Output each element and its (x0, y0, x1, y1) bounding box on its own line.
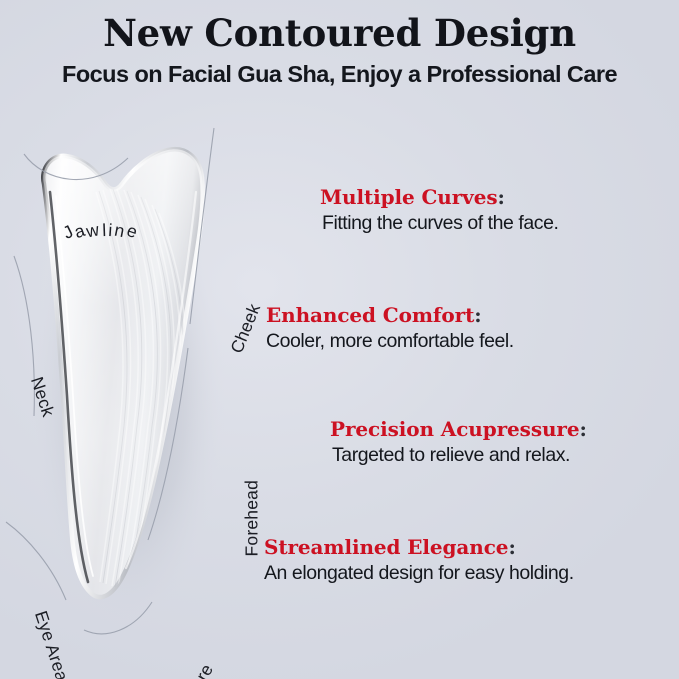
feature-title-colon: : (474, 303, 481, 327)
feature-description: Targeted to relieve and relax. (330, 440, 679, 467)
callout-label-jawline: Jawline (72, 220, 130, 241)
feature-item: Streamlined Elegance: An elongated desig… (262, 536, 679, 585)
feature-title-colon: : (498, 185, 505, 209)
feature-title-colon: : (508, 535, 515, 559)
callout-label-acupressure: Acupressure (151, 661, 218, 679)
feature-title: Multiple Curves: (320, 186, 679, 208)
feature-title-text: Streamlined Elegance (264, 535, 508, 559)
feature-title-colon: : (579, 417, 586, 441)
page-subtitle: Focus on Facial Gua Sha, Enjoy a Profess… (0, 54, 679, 88)
feature-title-text: Precision Acupressure (330, 417, 579, 441)
callout-label-forehead: Forehead (242, 480, 263, 557)
feature-description: Cooler, more comfortable feel. (266, 326, 679, 353)
header: New Contoured Design Focus on Facial Gua… (0, 0, 679, 88)
page-title: New Contoured Design (0, 0, 679, 54)
feature-item: Multiple Curves: Fitting the curves of t… (262, 186, 679, 235)
jawline-letter-2: w (85, 219, 101, 242)
feature-description: An elongated design for easy holding. (264, 558, 679, 585)
jawline-letter-3: l (102, 220, 107, 241)
feature-item: Precision Acupressure: Targeted to relie… (262, 418, 679, 467)
feature-title: Precision Acupressure: (330, 418, 679, 440)
feature-item: Enhanced Comfort: Cooler, more comfortab… (262, 304, 679, 353)
feature-title-text: Enhanced Comfort (266, 303, 474, 327)
product-infographic: New Contoured Design Focus on Facial Gua… (0, 0, 679, 679)
feature-title: Enhanced Comfort: (266, 304, 679, 326)
feature-description: Fitting the curves of the face. (320, 208, 679, 235)
product-image-area: Jawline Cheek Neck Forehead Eye Area Acu… (0, 96, 300, 656)
feature-title-text: Multiple Curves (320, 185, 498, 209)
feature-title: Streamlined Elegance: (264, 536, 679, 558)
